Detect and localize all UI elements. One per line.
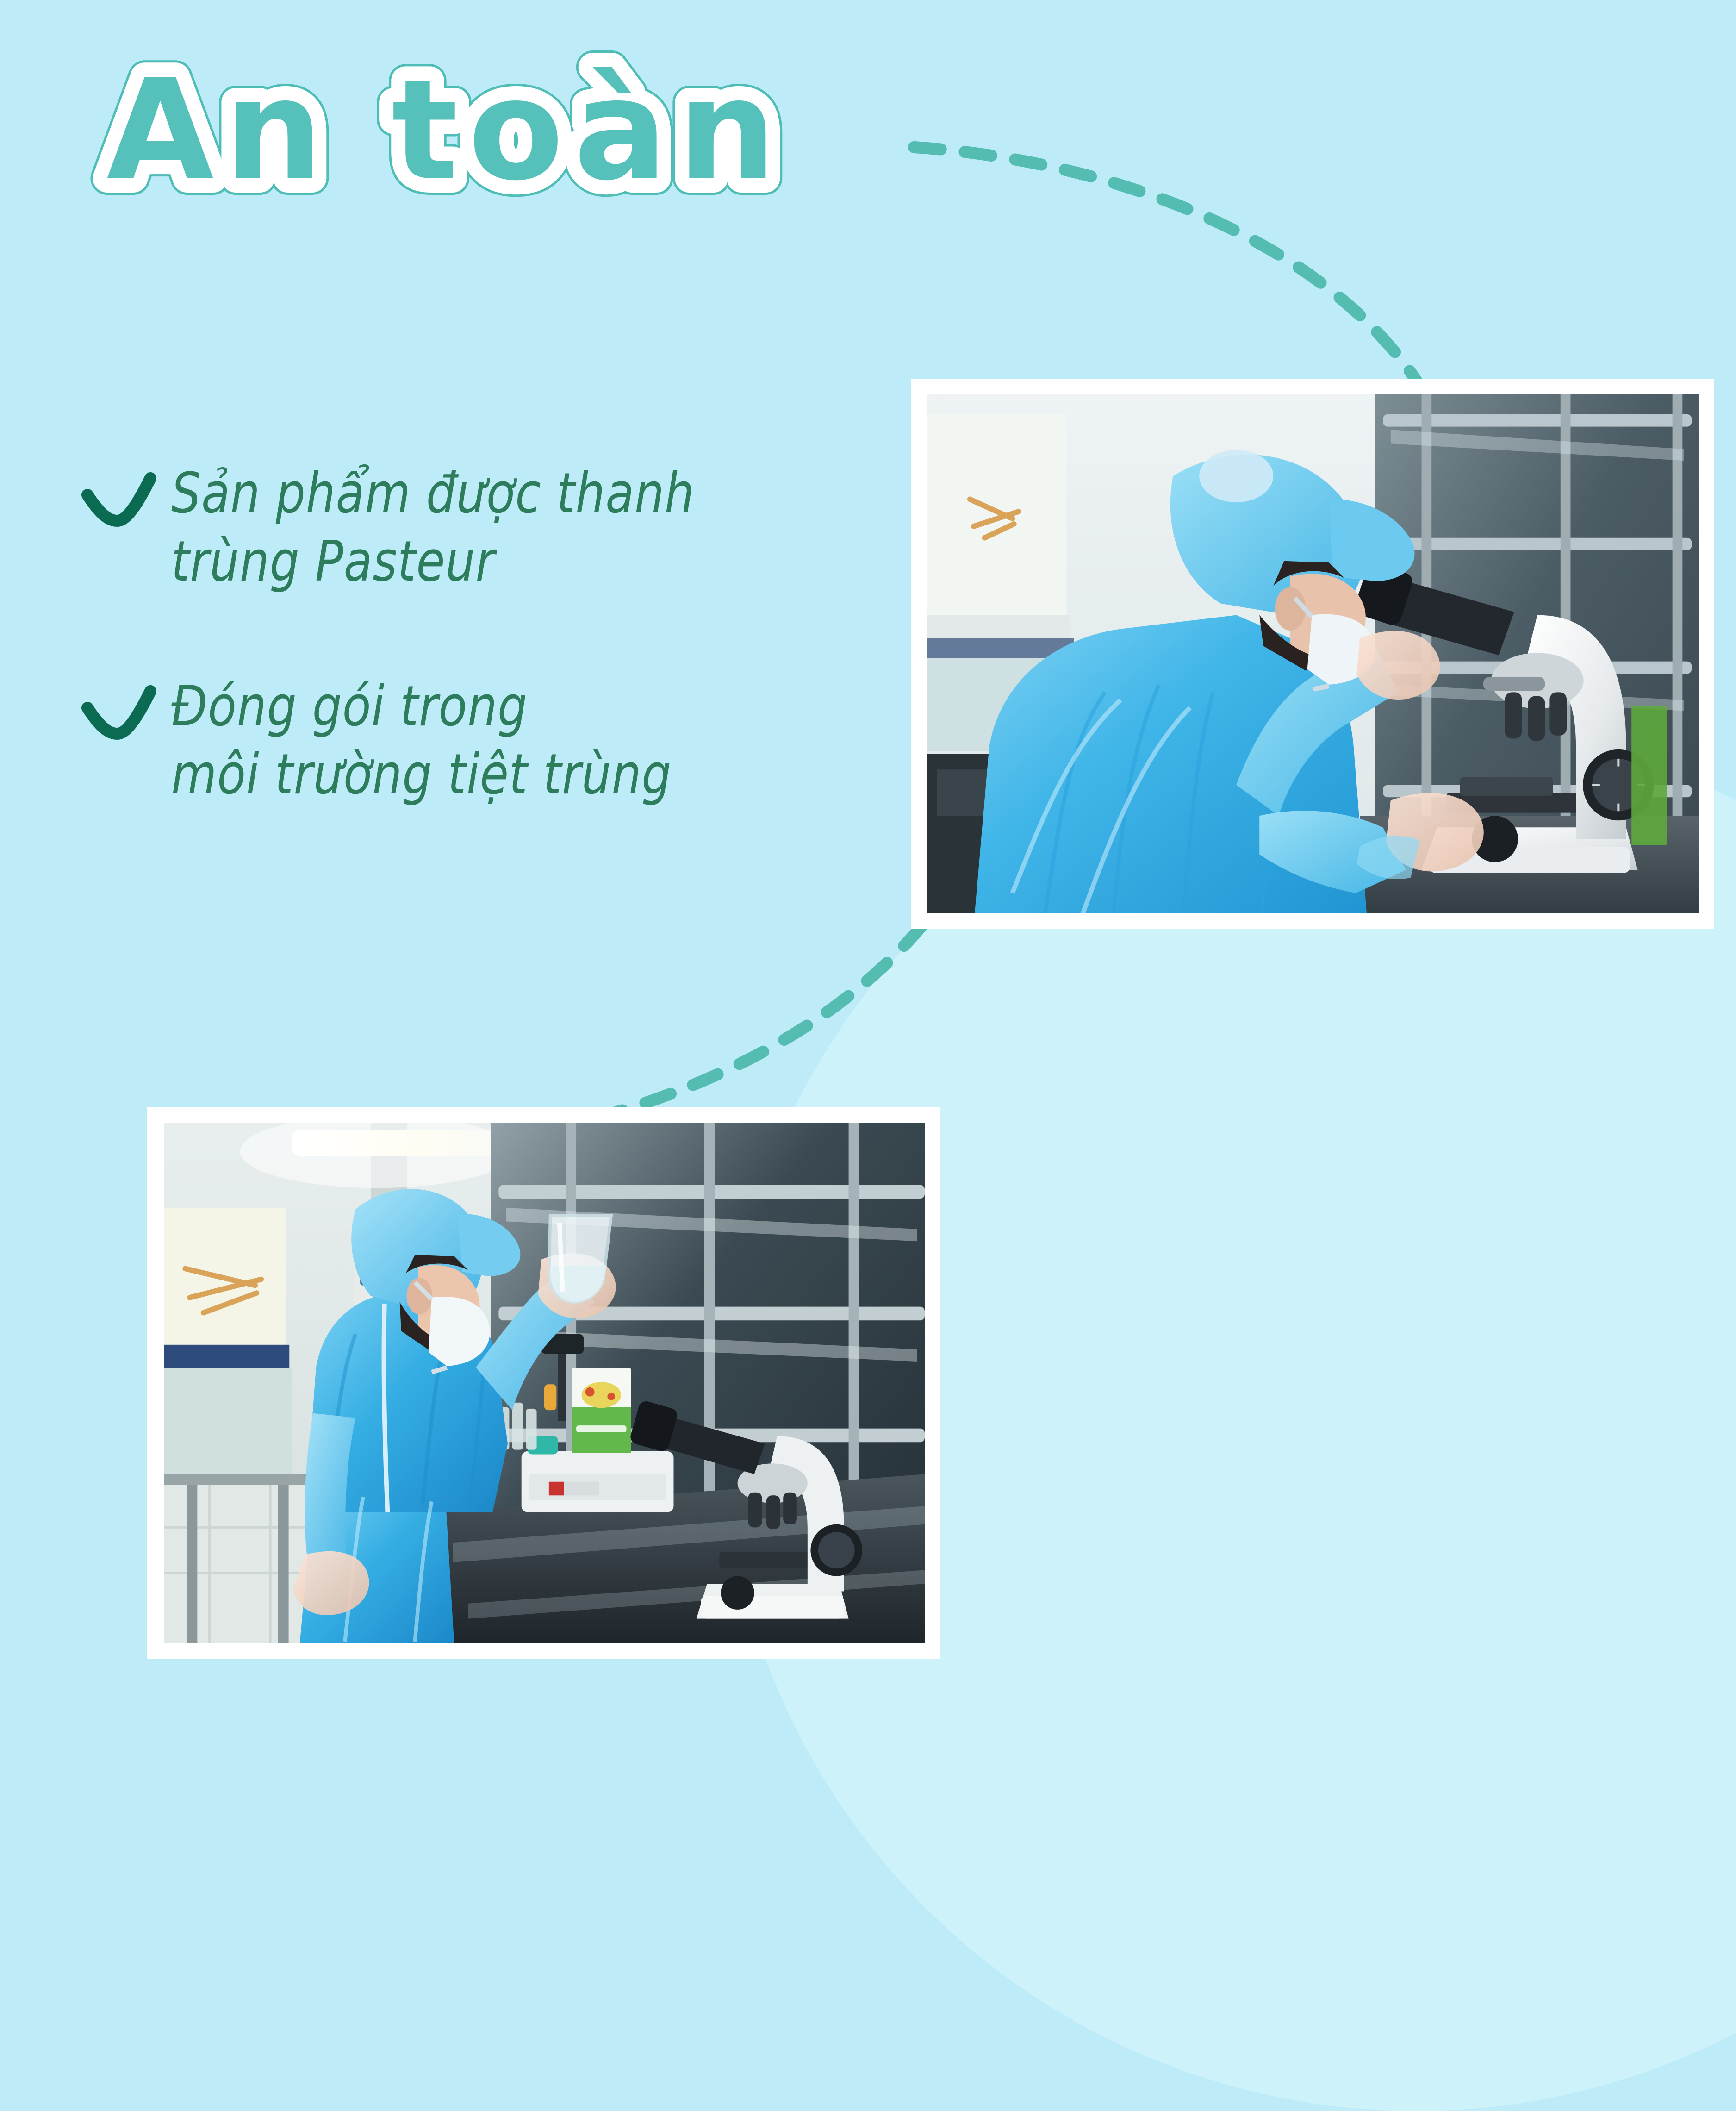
poster-canvas: .t-base{ font-family:"DejaVu Sans", sans… (0, 0, 1736, 1736)
page-title: .t-base{ font-family:"DejaVu Sans", sans… (106, 44, 986, 211)
check-icon (81, 679, 157, 749)
title-artwork: .t-base{ font-family:"DejaVu Sans", sans… (106, 44, 986, 211)
list-item: Sản phẩm được thanh trùng Pasteur (81, 456, 891, 576)
photo-illustration-microscope (927, 394, 1699, 913)
photo-illustration-beaker (164, 1123, 925, 1643)
feature-checklist: Sản phẩm được thanh trùng Pasteur Đóng g… (81, 456, 891, 789)
check-icon (81, 466, 157, 536)
photo-lab-technician-beaker (147, 1107, 940, 1659)
photo-content (164, 1123, 925, 1643)
list-item: Đóng gói trong môi trường tiệt trùng (81, 669, 891, 789)
photo-content (927, 394, 1699, 913)
list-item-label: Đóng gói trong môi trường tiệt trùng (171, 669, 672, 808)
list-item-label: Sản phẩm được thanh trùng Pasteur (171, 456, 695, 595)
dashed-path-1 (914, 147, 1422, 389)
title-fill: An toàn (106, 50, 787, 211)
photo-lab-technician-microscope (911, 379, 1714, 929)
